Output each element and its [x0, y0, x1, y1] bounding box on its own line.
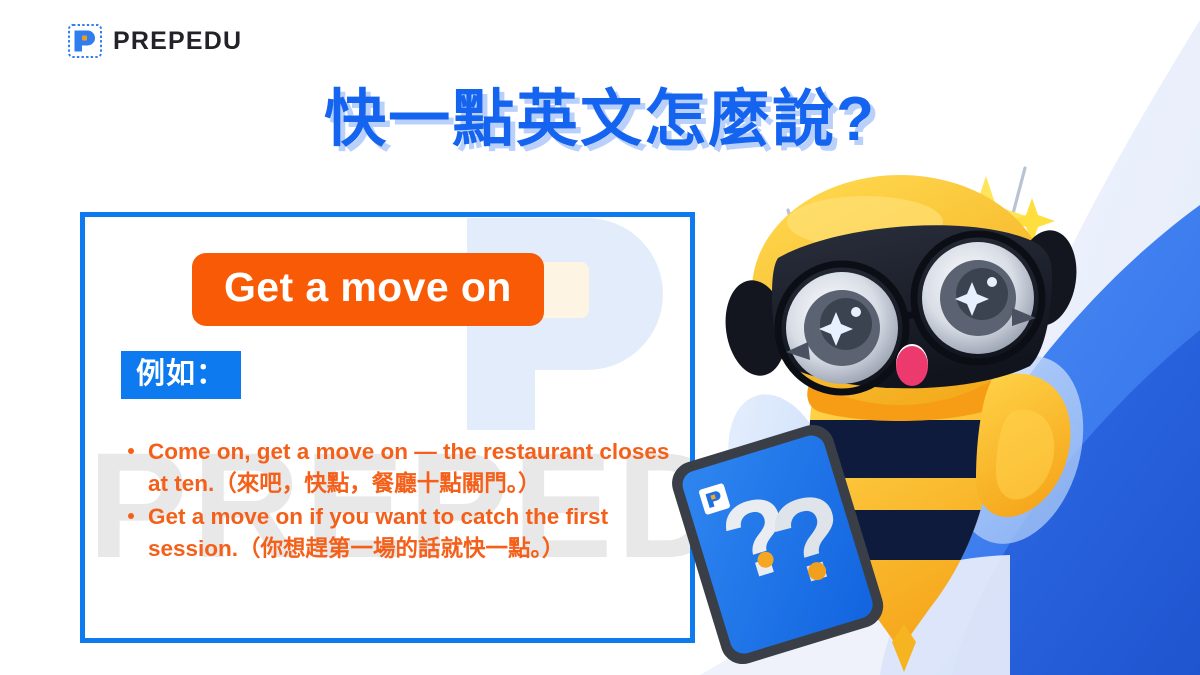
sparkle-icon: [946, 176, 1055, 256]
eye-left: [786, 272, 898, 384]
bee-abdomen: [790, 400, 1020, 672]
tablet-device: ? ?: [667, 420, 889, 670]
prepedu-p-logo-icon: [698, 483, 730, 515]
eye-right: [922, 242, 1036, 354]
bullet-dot-icon: [128, 513, 134, 519]
prepedu-p-logo-icon: [68, 24, 102, 58]
brand-logo[interactable]: PREPEDU: [68, 24, 242, 58]
antenna-icon: [788, 168, 1025, 348]
earmuff-icon: [1010, 226, 1083, 329]
list-item: Get a move on if you want to catch the f…: [126, 501, 671, 565]
svg-text:?: ?: [708, 470, 806, 605]
brand-name: PREPEDU: [113, 29, 242, 54]
bee-left-arm: [763, 449, 834, 514]
slide-canvas: PREPEDU 快一點英文怎麼說? PREPEDU Get a move on …: [0, 0, 1200, 675]
phrase-badge[interactable]: Get a move on: [192, 253, 544, 326]
mouth-shape: [896, 344, 928, 386]
bullet-dot-icon: [128, 448, 134, 454]
list-item: Come on, get a move on — the restaurant …: [126, 436, 671, 500]
tablet-question-marks: ? ?: [708, 455, 863, 627]
earmuff-icon: [720, 276, 793, 379]
page-title: 快一點英文怎麼說?: [0, 84, 1200, 155]
list-item-text: Come on, get a move on — the restaurant …: [148, 439, 669, 496]
question-dot-icon: [756, 550, 776, 570]
bee-head: [720, 175, 1083, 405]
bee-thorax: [807, 363, 995, 422]
wing-shape: [710, 341, 1104, 560]
visor-shape: [772, 225, 1052, 388]
bee-robot-mascot: ? ?: [660, 150, 1120, 675]
example-list: Come on, get a move on — the restaurant …: [126, 436, 671, 566]
question-dot-icon: [806, 560, 828, 582]
bee-right-arm: [976, 374, 1070, 517]
example-label-badge: 例如：: [121, 351, 241, 399]
svg-text:?: ?: [756, 466, 864, 613]
list-item-text: Get a move on if you want to catch the f…: [148, 504, 608, 561]
